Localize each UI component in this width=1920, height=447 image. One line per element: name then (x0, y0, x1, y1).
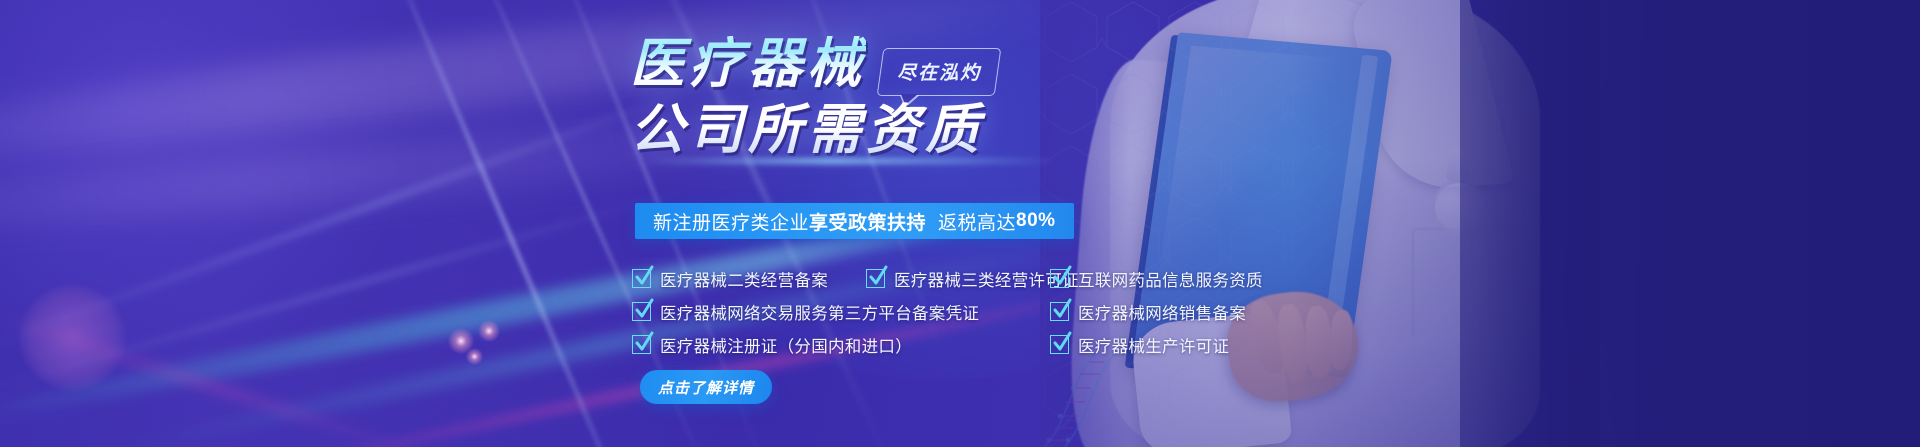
checklist-item[interactable]: 医疗器械注册证（分国内和进口） (632, 333, 912, 357)
promo-subtitle-bar: 新注册医疗类企业享受政策扶持返税高达80% (635, 203, 1074, 239)
subtitle-part-2-bold: 享受政策扶持 (809, 208, 926, 235)
brand-badge-label: 尽在泓灼 (897, 58, 981, 85)
brand-speech-badge: 尽在泓灼 (877, 48, 1002, 96)
headline-secondary: 公司所需资质 (630, 102, 1100, 159)
headline-first-row: 医疗器械 尽在泓灼 (630, 36, 1100, 96)
learn-more-button[interactable]: 点击了解详情 (640, 370, 772, 404)
check-square-icon (866, 269, 885, 288)
checklist-item[interactable]: 医疗器械网络销售备案 (1050, 300, 1246, 324)
lab-coat-pocket (1412, 228, 1508, 338)
subtitle-part-4-bold: 80% (1016, 210, 1056, 232)
subtitle-part-1: 新注册医疗类企业 (653, 208, 809, 235)
checklist-item-label: 互联网药品信息服务资质 (1078, 267, 1263, 291)
checklist-item-label: 医疗器械网络销售备案 (1078, 300, 1246, 324)
check-square-icon (1050, 302, 1069, 321)
check-square-icon (1050, 335, 1069, 354)
id-badge-ring (1432, 180, 1486, 234)
subtitle-part-3: 返税高达 (938, 208, 1016, 235)
checklist-row: 医疗器械注册证（分国内和进口） 医疗器械生产许可证 (632, 328, 1252, 361)
id-badge-clip (1446, 147, 1473, 184)
checklist-row: 医疗器械网络交易服务第三方平台备案凭证 医疗器械网络销售备案 (632, 295, 1252, 328)
medical-device-qualification-banner: 医疗器械 尽在泓灼 公司所需资质 新注册医疗类企业享受政策扶持返税高达80% 医… (0, 0, 1920, 447)
checklist-item[interactable]: 互联网药品信息服务资质 (1050, 267, 1263, 291)
check-square-icon (632, 335, 651, 354)
check-square-icon (632, 269, 651, 288)
checklist-item-label: 医疗器械注册证（分国内和进口） (660, 333, 912, 357)
qualification-checklist: 医疗器械二类经营备案 医疗器械三类经营许可证 互联网药品信息服务资质 (632, 262, 1252, 361)
checklist-item[interactable]: 医疗器械生产许可证 (1050, 333, 1229, 357)
checklist-item[interactable]: 医疗器械网络交易服务第三方平台备案凭证 (632, 300, 979, 324)
checklist-row: 医疗器械二类经营备案 医疗器械三类经营许可证 互联网药品信息服务资质 (632, 262, 1252, 295)
headline-block: 医疗器械 尽在泓灼 公司所需资质 (630, 36, 1100, 159)
checklist-item-label: 医疗器械二类经营备案 (660, 267, 828, 291)
headline-underglow (640, 158, 1060, 164)
checklist-item[interactable]: 医疗器械二类经营备案 (632, 267, 828, 291)
headline-primary: 医疗器械 (630, 36, 866, 93)
checklist-item-label: 医疗器械网络交易服务第三方平台备案凭证 (660, 300, 979, 324)
check-square-icon (1050, 269, 1069, 288)
check-square-icon (632, 302, 651, 321)
checklist-item[interactable]: 医疗器械三类经营许可证 (866, 267, 1079, 291)
banner-content: 医疗器械 尽在泓灼 公司所需资质 新注册医疗类企业享受政策扶持返税高达80% 医… (0, 0, 1100, 447)
doctor-photo (1040, 0, 1600, 447)
checklist-item-label: 医疗器械生产许可证 (1078, 333, 1229, 357)
